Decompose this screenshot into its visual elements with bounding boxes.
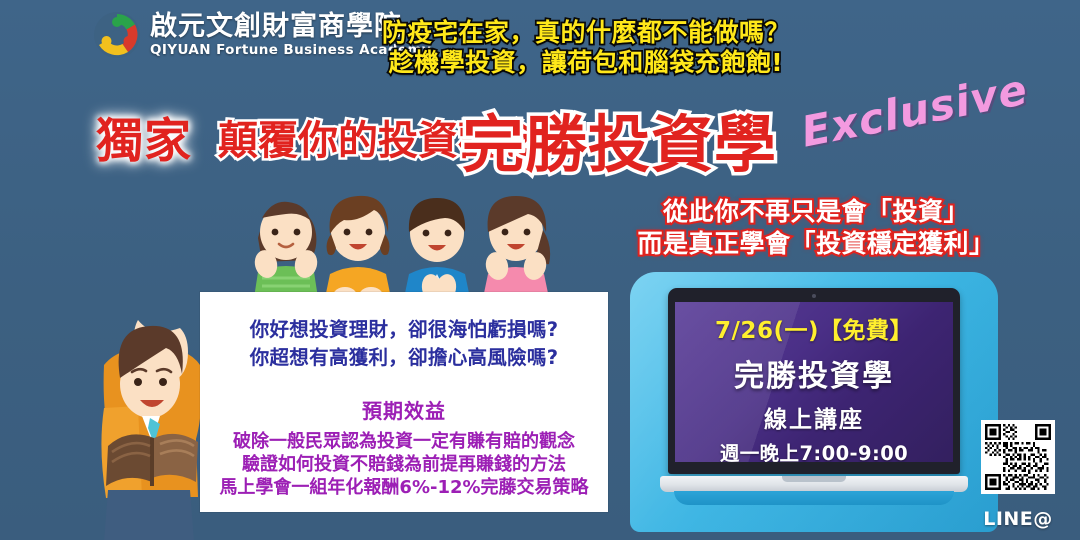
student-orange-icon [325,196,391,305]
right-headline-line-1: 從此你不再只是會「投資」 [616,196,1016,228]
laptop-screen: 7/26(一)【免費】 完勝投資學 線上講座 週一晚上7:00-9:00 [675,302,953,462]
student-blue-icon [404,198,470,304]
event-course-title: 完勝投資學 [675,351,953,395]
event-time: 週一晚上7:00-9:00 [675,437,953,462]
student-green-icon [252,202,320,298]
laptop-camera-icon [812,294,816,298]
laptop-bezel: 7/26(一)【免費】 完勝投資學 線上講座 週一晚上7:00-9:00 [668,288,960,474]
qr-block: LINE@ [968,420,1068,530]
event-date: 7/26(一)【免費】 [675,311,953,345]
card-questions: 你好想投資理財，卻很海怕虧損嗎? 你超想有高獲利，卻擔心高風險嗎? [200,292,608,373]
card-benefit-2: 驗證如何投資不賠錢為前提再賺錢的方法 [200,453,608,476]
student-pink-icon [483,196,550,298]
laptop-trackpad-notch [782,476,846,482]
people-circle-logo-icon [92,10,142,60]
right-headline: 從此你不再只是會「投資」 而是真正學會「投資穩定獲利」 [616,196,1016,260]
promo-poster: 啟元文創財富商學院 QIYUAN Fortune Business Academ… [0,0,1080,540]
qr-code-icon[interactable] [981,420,1055,494]
content-card: 你好想投資理財，卻很海怕虧損嗎? 你超想有高獲利，卻擔心高風險嗎? 預期效益 破… [200,292,608,512]
card-benefit-title: 預期效益 [200,395,608,424]
card-benefit-3: 馬上學會一組年化報酬6%-12%完藤交易策略 [200,476,608,499]
event-format: 線上講座 [675,400,953,434]
exclusive-badge-en: Exclusive [797,65,1031,157]
card-benefit-1: 破除一般民眾認為投資一定有賺有賠的觀念 [200,430,608,453]
top-headline-line-2: 趁機學投資，讓荷包和腦袋充飽飽! [366,48,806,78]
right-headline-line-2: 而是真正學會「投資穩定獲利」 [616,228,1016,260]
laptop-illustration: 7/26(一)【免費】 完勝投資學 線上講座 週一晚上7:00-9:00 [630,272,998,540]
card-question-2: 你超想有高獲利，卻擔心高風險嗎? [210,344,598,372]
laptop-foot-shadow [674,491,954,505]
laptop-base [660,476,968,492]
top-headline: 防疫宅在家，真的什麼都不能做嗎？ 趁機學投資，讓荷包和腦袋充飽飽! [366,18,806,77]
top-headline-line-1: 防疫宅在家，真的什麼都不能做嗎？ [366,18,806,48]
card-benefit-list: 破除一般民眾認為投資一定有賺有賠的觀念 驗證如何投資不賠錢為前提再賺錢的方法 馬… [200,430,608,500]
card-question-1: 你好想投資理財，卻很海怕虧損嗎? [210,316,598,344]
qr-label: LINE@ [968,508,1068,530]
